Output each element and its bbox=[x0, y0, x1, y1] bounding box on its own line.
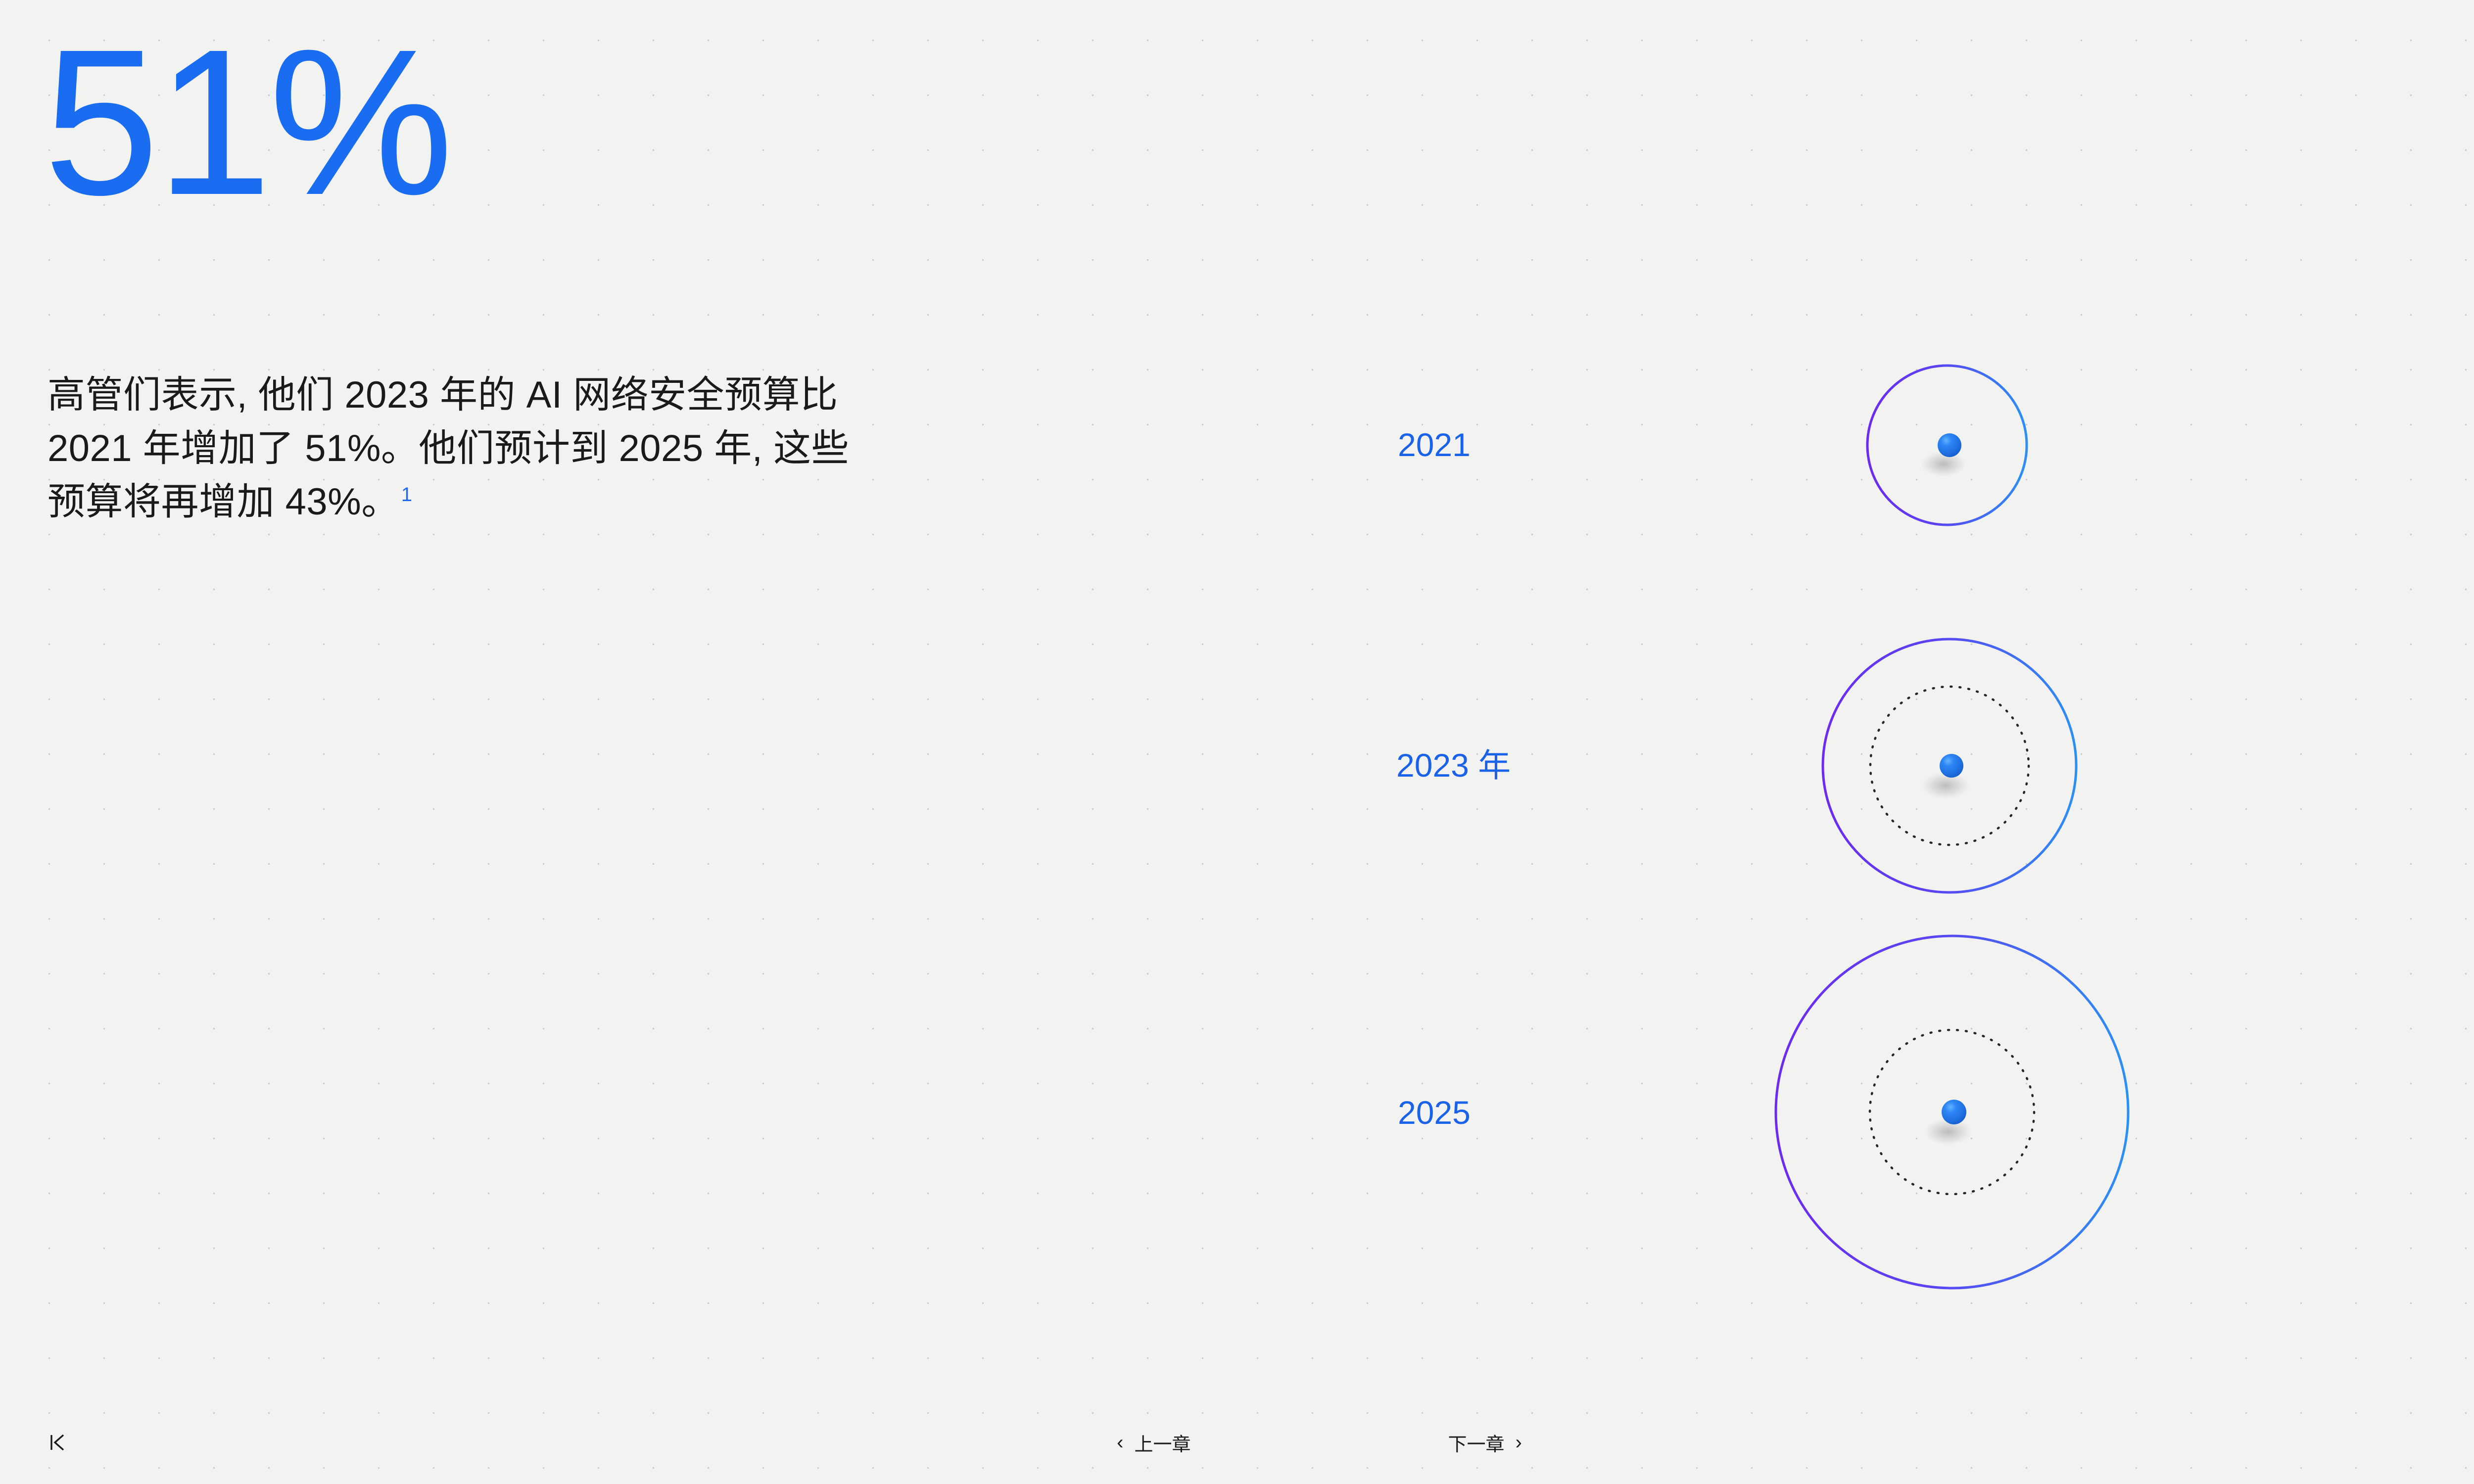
diagram-svg: 2021 2023 年 2025 bbox=[1336, 277, 2202, 1365]
next-chapter-button[interactable]: 下一章 › bbox=[1448, 1429, 1522, 1456]
slide-page: 51% 高管们表示, 他们 2023 年的 AI 网络安全预算比 2021 年增… bbox=[0, 0, 2474, 1484]
center-sphere-2025 bbox=[1942, 1100, 1966, 1124]
diagram-node-2023[interactable]: 2023 年 bbox=[1396, 639, 2076, 892]
next-chapter-label: 下一章 bbox=[1448, 1429, 1505, 1456]
previous-chapter-label: 上一章 bbox=[1134, 1429, 1190, 1456]
body-paragraph: 高管们表示, 他们 2023 年的 AI 网络安全预算比 2021 年增加了 5… bbox=[48, 369, 869, 529]
body-text: 高管们表示, 他们 2023 年的 AI 网络安全预算比 2021 年增加了 5… bbox=[48, 374, 849, 523]
footnote-reference-link[interactable]: 1 bbox=[401, 484, 413, 506]
previous-chapter-button[interactable]: ‹ 上一章 bbox=[1117, 1429, 1190, 1456]
page-title-stat: 51% bbox=[44, 19, 451, 227]
center-sphere-2023 bbox=[1940, 754, 1963, 778]
skip-to-start-icon bbox=[48, 1431, 68, 1454]
chevron-right-icon: › bbox=[1516, 1433, 1522, 1452]
footer-bar: ‹ 上一章 下一章 › 8 bbox=[0, 1401, 2474, 1484]
budget-growth-circle-diagram: 2021 2023 年 2025 bbox=[1336, 277, 2202, 1365]
diagram-node-2021[interactable]: 2021 bbox=[1398, 366, 2027, 525]
chevron-left-icon: ‹ bbox=[1117, 1433, 1123, 1452]
skip-to-start-button[interactable] bbox=[48, 1431, 68, 1454]
diagram-node-2025[interactable]: 2025 bbox=[1398, 936, 2128, 1288]
center-sphere-2021 bbox=[1938, 433, 1961, 457]
sphere-shadow-2023 bbox=[1922, 772, 1969, 799]
chapter-navigation: ‹ 上一章 下一章 › bbox=[1117, 1429, 1522, 1456]
